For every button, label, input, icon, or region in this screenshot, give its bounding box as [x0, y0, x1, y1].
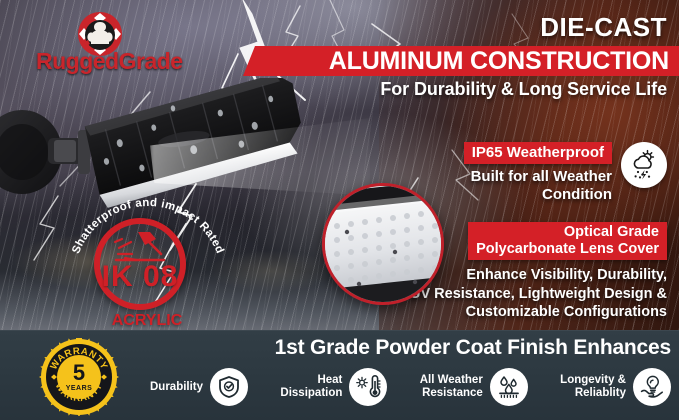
headline-banner: ALUMINUM CONSTRUCTION	[243, 46, 679, 76]
thermometer-sun-icon	[349, 368, 387, 406]
ip65-tag: IP65 Weatherproof	[464, 142, 612, 164]
led-lens-array-closeup	[322, 183, 444, 305]
brand-logo[interactable]: RuggedGrade	[36, 12, 186, 74]
ik08-circle: IK 08	[94, 218, 186, 310]
bottom-title: 1st Grade Powder Coat Finish Enhances	[270, 336, 671, 360]
feature-label: Heat Dissipation	[280, 374, 342, 400]
bottom-feature-bar: WARRANTY WARRANTY 5 YEARS 1st Grade Powd…	[0, 330, 679, 420]
feature-label: Durability	[150, 381, 203, 394]
svg-text:YEARS: YEARS	[66, 385, 93, 392]
product-marketing-banner: RuggedGrade DIE-CAST ALUMINUM CONSTRUCTI…	[0, 0, 679, 420]
hammer-impact-icon	[112, 230, 168, 264]
ik08-rating: IK 08	[102, 262, 179, 292]
svg-text:5: 5	[73, 360, 85, 385]
headline-subtitle: For Durability & Long Service Life	[297, 79, 667, 100]
feature-item[interactable]: Heat Dissipation	[280, 368, 387, 406]
brand-name: RuggedGrade	[36, 48, 188, 75]
headline-eyebrow: DIE-CAST	[297, 14, 667, 41]
water-drops-icon	[490, 368, 528, 406]
ip65-description: Built for all Weather Condition	[464, 168, 612, 203]
feature-item[interactable]: All Weather Resistance	[420, 368, 528, 406]
headline-block: DIE-CAST ALUMINUM CONSTRUCTION For Durab…	[297, 14, 667, 100]
callout-ip65: IP65 Weatherproof Built for all Weather …	[417, 142, 667, 203]
hand-bulb-icon	[633, 368, 671, 406]
feature-item[interactable]: Longevity & Reliablity	[560, 368, 671, 406]
optical-tag: Optical Grade Polycarbonate Lens Cover	[468, 222, 667, 260]
shield-check-icon	[210, 368, 248, 406]
ik08-sub-line1: ACRYLIC	[62, 312, 232, 329]
warranty-badge: WARRANTY WARRANTY 5 YEARS	[32, 338, 126, 416]
feature-label: All Weather Resistance	[420, 374, 483, 400]
sun-cloud-rain-icon	[621, 142, 667, 188]
ik08-badge: Shatterproof and impact Rated IK 08 ACRY…	[62, 200, 232, 328]
feature-item[interactable]: Durability	[150, 368, 248, 406]
headline-banner-text: ALUMINUM CONSTRUCTION	[329, 49, 669, 74]
feature-list: Durability Heat Dissipation	[150, 368, 671, 406]
feature-label: Longevity & Reliablity	[560, 374, 626, 400]
